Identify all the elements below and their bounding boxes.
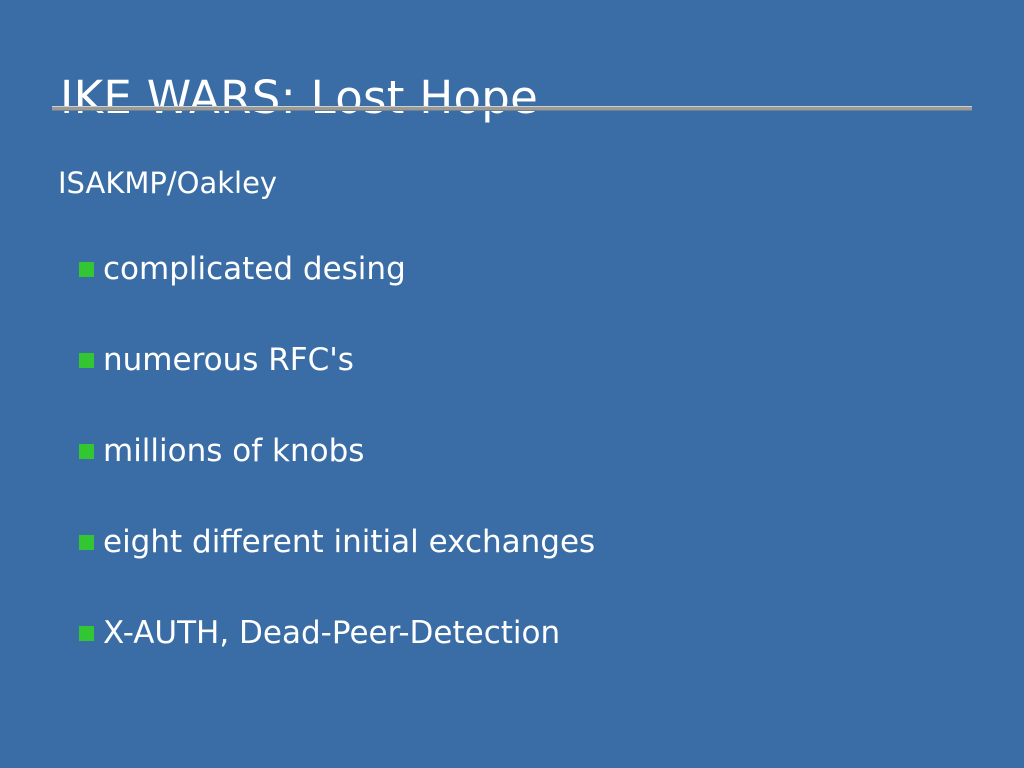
square-bullet-icon: [79, 626, 94, 641]
slide-subtitle: ISAKMP/Oakley: [58, 164, 277, 202]
bullet-list: complicated desing numerous RFC's millio…: [79, 250, 979, 705]
square-bullet-icon: [79, 262, 94, 277]
page-title: IKE WARS: Lost Hope: [60, 70, 980, 126]
list-item: X-AUTH, Dead-Peer-Detection: [79, 614, 979, 705]
title-divider: [52, 106, 972, 111]
square-bullet-icon: [79, 444, 94, 459]
list-item-label: complicated desing: [103, 250, 979, 288]
list-item-label: millions of knobs: [103, 432, 979, 470]
list-item-label: numerous RFC's: [103, 341, 979, 379]
square-bullet-icon: [79, 535, 94, 550]
square-bullet-icon: [79, 353, 94, 368]
presentation-slide: IKE WARS: Lost Hope ISAKMP/Oakley compli…: [0, 0, 1024, 768]
list-item-label: eight different initial exchanges: [103, 523, 979, 561]
list-item: numerous RFC's: [79, 341, 979, 432]
list-item-label: X-AUTH, Dead-Peer-Detection: [103, 614, 979, 652]
list-item: millions of knobs: [79, 432, 979, 523]
list-item: complicated desing: [79, 250, 979, 341]
list-item: eight different initial exchanges: [79, 523, 979, 614]
